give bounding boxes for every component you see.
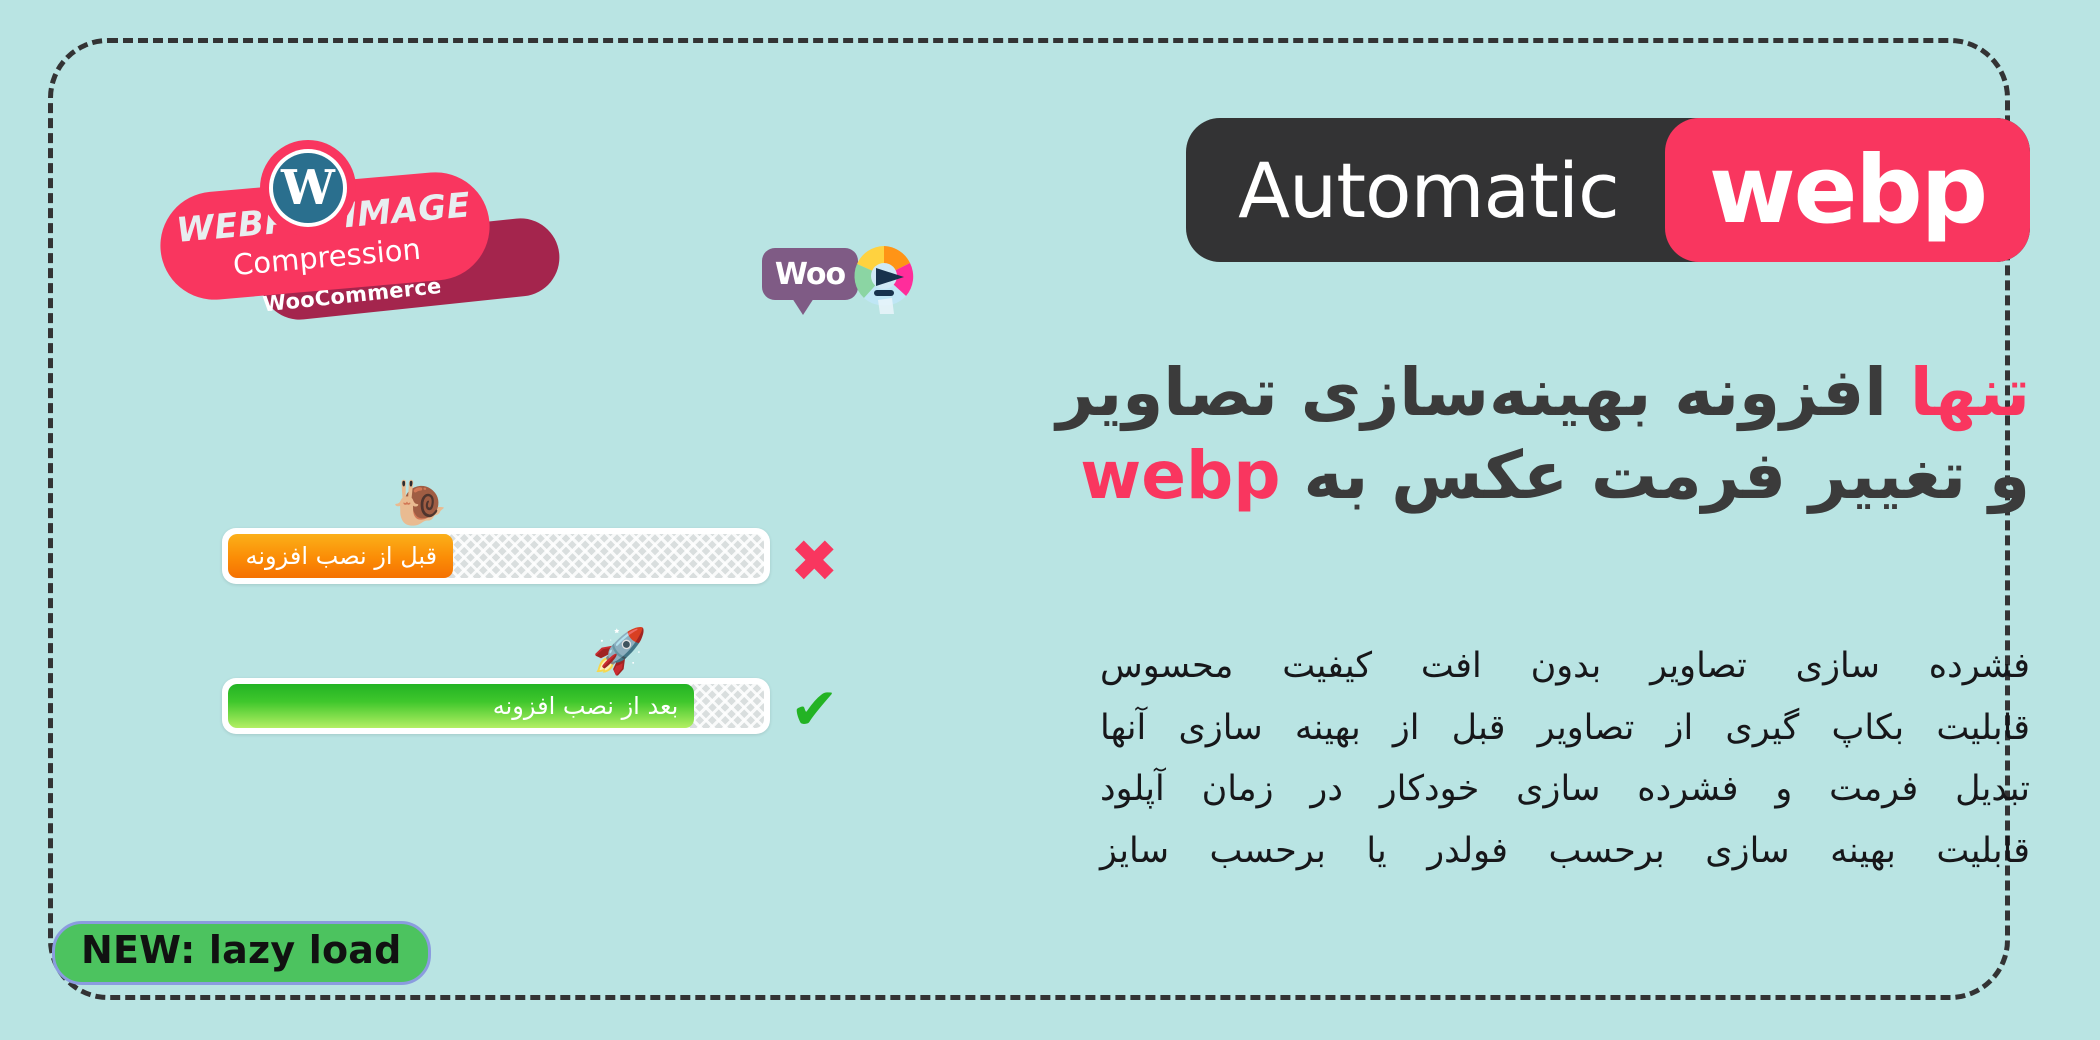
after-progress-bar: بعد از نصب افزونه — [222, 678, 770, 734]
feature-line: قابلیت بکاپ گیری از تصاویر قبل از بهینه … — [1100, 698, 2030, 760]
chip-word-automatic: Automatic — [1186, 118, 1665, 262]
woocommerce-logo: Woo — [762, 238, 922, 328]
check-icon: ✔ — [790, 680, 839, 738]
page-headline: تنها افزونه بهینه‌سازی تصاویر و تغییر فر… — [1100, 352, 2030, 517]
automatic-webp-chip: Automatic webp — [1186, 118, 2030, 262]
woo-label: Woo — [775, 257, 845, 292]
before-comparison-row: 🐌 قبل از نصب افزونه — [222, 528, 770, 584]
before-progress-track: قبل از نصب افزونه — [228, 534, 764, 578]
feature-list: فشرده سازی تصاویر بدون افت کیفیت محسوس ق… — [1100, 636, 2030, 882]
feature-line: تبدیل فرمت و فشرده سازی خودکار در زمان آ… — [1100, 759, 2030, 821]
headline-line-1-rest: افزونه بهینه‌سازی تصاویر — [1056, 354, 1910, 431]
right-content-column: Automatic webp تنها افزونه بهینه‌سازی تص… — [1070, 0, 2030, 1040]
before-progress-bar: قبل از نصب افزونه — [222, 528, 770, 584]
cross-icon: ✖ — [790, 532, 839, 590]
headline-line-2-prefix: و تغییر فرمت عکس به — [1304, 437, 2030, 514]
feature-line: قابلیت بهینه سازی برحسب فولدر یا برحسب س… — [1100, 821, 2030, 883]
product-logo: WordPress & WooCommerce WEBP & IMAGE Com… — [160, 150, 580, 335]
snail-icon: 🐌 — [392, 482, 447, 526]
wordpress-letter: W — [273, 153, 343, 223]
headline-line-1: تنها افزونه بهینه‌سازی تصاویر — [1100, 352, 2030, 435]
feature-line: فشرده سازی تصاویر بدون افت کیفیت محسوس — [1100, 636, 2030, 698]
headline-accent-webp: webp — [1080, 437, 1280, 514]
left-visual-column: WordPress & WooCommerce WEBP & IMAGE Com… — [0, 0, 1080, 1040]
after-progress-track: بعد از نصب افزونه — [228, 684, 764, 728]
woo-speech-bubble: Woo — [762, 248, 858, 300]
new-feature-badge[interactable]: NEW: lazy load — [52, 921, 431, 985]
wordpress-icon: W — [260, 140, 356, 236]
color-wheel-icon — [848, 238, 920, 314]
after-progress-fill: بعد از نصب افزونه — [228, 684, 694, 728]
rocket-icon: 🚀 — [592, 630, 647, 674]
headline-accent-tanha: تنها — [1910, 354, 2030, 431]
before-progress-fill: قبل از نصب افزونه — [228, 534, 453, 578]
chip-word-webp: webp — [1665, 118, 2030, 262]
headline-line-2: و تغییر فرمت عکس به webp — [1100, 435, 2030, 518]
after-comparison-row: 🚀 بعد از نصب افزونه — [222, 678, 770, 734]
